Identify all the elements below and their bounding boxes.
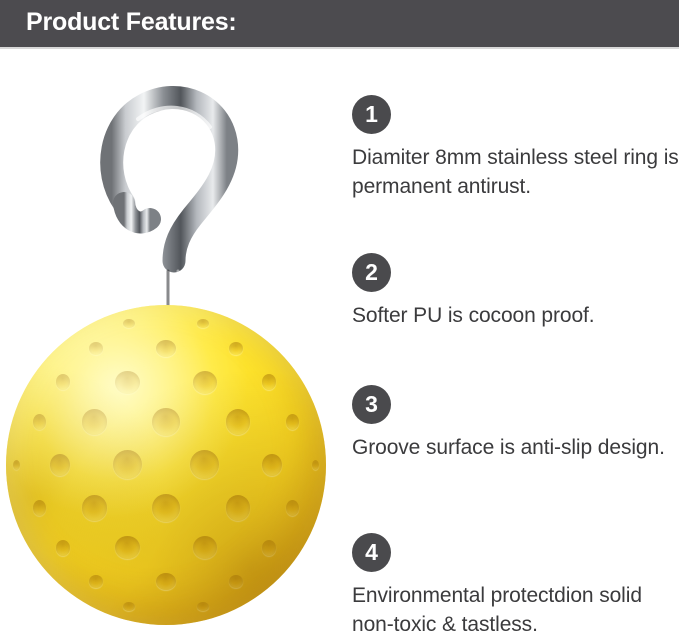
ball-dimple xyxy=(262,374,276,390)
feature-item-4: 4 Environmental protectdion solid non-to… xyxy=(352,533,679,639)
feature-number-badge-3: 3 xyxy=(352,385,391,424)
ball-dimple xyxy=(82,495,106,520)
feature-text-4: Environmental protectdion solid non-toxi… xyxy=(352,581,679,639)
ball-dimple xyxy=(50,454,70,477)
ball-dimple xyxy=(226,495,250,520)
ball-dimple xyxy=(89,342,103,356)
ball-dimple xyxy=(229,342,243,356)
product-image xyxy=(0,47,340,642)
ball-dimple xyxy=(152,494,181,522)
ball-dimple xyxy=(33,500,46,516)
ball-dimple xyxy=(89,575,103,589)
ball-dimple xyxy=(197,319,208,328)
ball-dimple xyxy=(197,602,208,611)
feature-text-2: Softer PU is cocoon proof. xyxy=(352,301,679,330)
ball-dimple xyxy=(262,454,282,477)
ball-dimple xyxy=(56,540,70,556)
feature-list: 1 Diamiter 8mm stainless steel ring is p… xyxy=(352,47,679,642)
ball-dimple xyxy=(156,573,177,591)
page-title: Product Features: xyxy=(26,8,237,37)
feature-number-badge-1: 1 xyxy=(352,95,391,134)
feature-text-3: Groove surface is anti-slip design. xyxy=(352,433,679,462)
ball-dimple xyxy=(56,374,70,390)
ball-dimple-texture xyxy=(6,305,326,625)
yellow-dimpled-ball xyxy=(6,305,326,625)
ball-dimple xyxy=(312,460,320,471)
product-features-infographic: Product Features: xyxy=(0,0,679,642)
ball-dimple xyxy=(286,414,299,430)
ball-dimple xyxy=(113,450,142,479)
ball-dimple xyxy=(229,575,243,589)
ball-dimple xyxy=(193,536,217,559)
ball-dimple xyxy=(193,371,217,394)
feature-item-3: 3 Groove surface is anti-slip design. xyxy=(352,385,679,462)
ball-dimple xyxy=(123,602,134,611)
ball-dimple xyxy=(115,536,139,559)
ball-dimple xyxy=(286,500,299,516)
ball-dimple xyxy=(262,540,276,556)
ball-dimple xyxy=(123,319,134,328)
ball-dimple xyxy=(115,371,139,394)
ball-dimple xyxy=(152,408,181,436)
ball-dimple xyxy=(13,460,21,471)
feature-number-badge-2: 2 xyxy=(352,253,391,292)
ball-dimple xyxy=(33,414,46,430)
feature-item-2: 2 Softer PU is cocoon proof. xyxy=(352,253,679,330)
ball-dimple xyxy=(82,409,106,434)
feature-number-badge-4: 4 xyxy=(352,533,391,572)
feature-text-1: Diamiter 8mm stainless steel ring is per… xyxy=(352,143,679,201)
feature-item-1: 1 Diamiter 8mm stainless steel ring is p… xyxy=(352,95,679,201)
ball-dimple xyxy=(190,450,219,479)
ball-dimple xyxy=(226,409,250,434)
ball-dimple xyxy=(156,340,177,358)
